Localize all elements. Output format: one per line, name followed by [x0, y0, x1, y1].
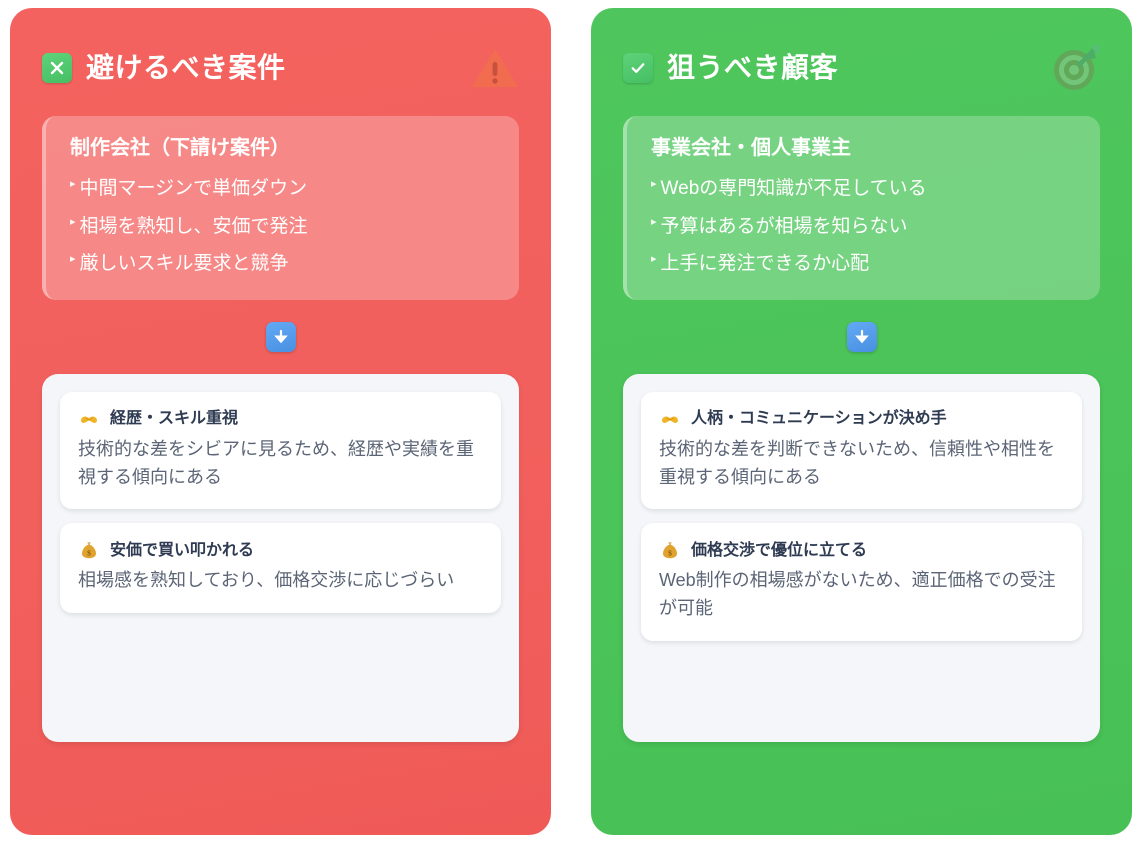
avoid-card-1-body: 技術的な差をシビアに見るため、経歴や実績を重視する傾向にある	[78, 436, 483, 492]
panel-avoid-title: 避けるべき案件	[86, 54, 286, 82]
list-item-label: Webの専門知識が不足している	[661, 175, 927, 203]
panel-target-header: 狙うべき顧客	[623, 40, 1100, 96]
target-card-1-body: 技術的な差を判断できないため、信頼性や相性を重視する傾向にある	[659, 436, 1064, 492]
avoid-card-2-header: $ 安価で買い叩かれる	[78, 539, 483, 561]
list-item: ▸ 厳しいスキル要求と競争	[70, 250, 495, 278]
list-item: ▸ 予算はあるが相場を知らない	[651, 213, 1076, 241]
avoid-card-2-body: 相場感を熟知しており、価格交渉に応じづらい	[78, 567, 483, 595]
avoid-connector	[42, 322, 519, 352]
target-card-tray: 人柄・コミュニケーションが決め手 技術的な差を判断できないため、信頼性や相性を重…	[623, 374, 1100, 742]
triangle-bullet-icon: ▸	[651, 175, 657, 195]
target-card-1: 人柄・コミュニケーションが決め手 技術的な差を判断できないため、信頼性や相性を重…	[641, 392, 1082, 510]
list-item: ▸ 上手に発注できるか心配	[651, 250, 1076, 278]
avoid-card-2: $ 安価で買い叩かれる 相場感を熟知しており、価格交渉に応じづらい	[60, 523, 501, 613]
panel-avoid-header: 避けるべき案件	[42, 40, 519, 96]
money-bag-icon: $	[659, 539, 681, 561]
target-subject-box: 事業会社・個人事業主 ▸ Webの専門知識が不足している ▸ 予算はあるが相場を…	[623, 116, 1100, 300]
bullseye-dart-icon	[1050, 42, 1102, 94]
triangle-bullet-icon: ▸	[651, 250, 657, 270]
svg-text:$: $	[87, 549, 91, 558]
down-arrow-icon	[266, 322, 296, 352]
list-item-label: 上手に発注できるか心配	[661, 250, 870, 278]
triangle-bullet-icon: ▸	[70, 175, 76, 195]
check-box-with-check-icon	[623, 53, 653, 83]
list-item-label: 厳しいスキル要求と競争	[80, 250, 289, 278]
avoid-card-1-title: 経歴・スキル重視	[110, 409, 238, 428]
list-item: ▸ 相場を熟知し、安価で発注	[70, 213, 495, 241]
target-card-1-title: 人柄・コミュニケーションが決め手	[691, 409, 947, 428]
list-item-label: 相場を熟知し、安価で発注	[80, 213, 308, 241]
target-card-2-body: Web制作の相場感がないため、適正価格での受注が可能	[659, 567, 1064, 623]
list-item-label: 中間マージンで単価ダウン	[80, 175, 308, 203]
target-card-2-title: 価格交渉で優位に立てる	[691, 541, 867, 560]
panel-avoid: 避けるべき案件 制作会社（下請け案件） ▸ 中間マージンで単価ダウン ▸ 相場を…	[10, 8, 551, 835]
panel-target: 狙うべき顧客 事業会社・個人事業主 ▸ Webの専門知識が不足している	[591, 8, 1132, 835]
down-arrow-icon	[847, 322, 877, 352]
list-item-label: 予算はあるが相場を知らない	[661, 213, 908, 241]
avoid-subject-points: ▸ 中間マージンで単価ダウン ▸ 相場を熟知し、安価で発注 ▸ 厳しいスキル要求…	[70, 175, 495, 278]
svg-text:$: $	[668, 549, 672, 558]
triangle-bullet-icon: ▸	[70, 213, 76, 233]
money-bag-icon: $	[78, 539, 100, 561]
warning-triangle-icon	[469, 42, 521, 94]
target-card-2-header: $ 価格交渉で優位に立てる	[659, 539, 1064, 561]
target-subject-points: ▸ Webの専門知識が不足している ▸ 予算はあるが相場を知らない ▸ 上手に発…	[651, 175, 1076, 278]
avoid-subject-title: 制作会社（下請け案件）	[70, 136, 495, 161]
avoid-card-tray: 経歴・スキル重視 技術的な差をシビアに見るため、経歴や実績を重視する傾向にある …	[42, 374, 519, 742]
comparison-board: 避けるべき案件 制作会社（下請け案件） ▸ 中間マージンで単価ダウン ▸ 相場を…	[0, 0, 1142, 845]
panel-target-title: 狙うべき顧客	[667, 54, 838, 82]
target-card-2: $ 価格交渉で優位に立てる Web制作の相場感がないため、適正価格での受注が可能	[641, 523, 1082, 641]
triangle-bullet-icon: ▸	[651, 213, 657, 233]
target-subject-title: 事業会社・個人事業主	[651, 136, 1076, 161]
target-connector	[623, 322, 1100, 352]
cross-mark-button-icon	[42, 53, 72, 83]
handshake-icon	[78, 408, 100, 430]
avoid-subject-box: 制作会社（下請け案件） ▸ 中間マージンで単価ダウン ▸ 相場を熟知し、安価で発…	[42, 116, 519, 300]
avoid-card-2-title: 安価で買い叩かれる	[110, 541, 254, 560]
avoid-card-1-header: 経歴・スキル重視	[78, 408, 483, 430]
list-item: ▸ Webの専門知識が不足している	[651, 175, 1076, 203]
avoid-card-1: 経歴・スキル重視 技術的な差をシビアに見るため、経歴や実績を重視する傾向にある	[60, 392, 501, 510]
triangle-bullet-icon: ▸	[70, 250, 76, 270]
handshake-icon	[659, 408, 681, 430]
target-card-1-header: 人柄・コミュニケーションが決め手	[659, 408, 1064, 430]
list-item: ▸ 中間マージンで単価ダウン	[70, 175, 495, 203]
